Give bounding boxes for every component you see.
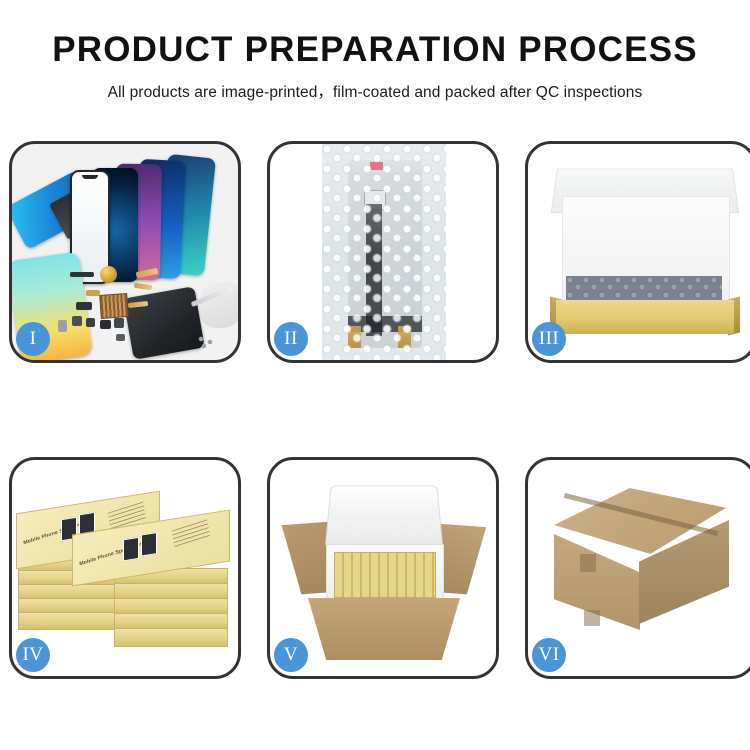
stacked-box-l5 <box>18 612 116 630</box>
yellow-boxes-inside <box>334 552 436 598</box>
screws-group <box>198 336 218 348</box>
box-spec-lines-front <box>172 519 211 550</box>
process-step-card-4: Mobile Phone Spare Parts Mobile Phone Sp… <box>9 457 241 679</box>
bubble-wrap-bag <box>322 144 446 360</box>
flex-cable-2 <box>134 283 153 290</box>
step-badge-4: IV <box>16 638 50 672</box>
page-title: PRODUCT PREPARATION PROCESS <box>0 32 750 69</box>
phone-back-housing <box>123 286 205 360</box>
foam-box-lid <box>325 485 443 545</box>
small-part-2 <box>76 302 92 310</box>
process-step-card-6: VI <box>525 457 750 679</box>
process-step-card-5: V <box>267 457 499 679</box>
box-screen-thumb-d <box>141 532 157 557</box>
process-step-card-1: I <box>9 141 241 363</box>
gold-component <box>100 266 117 283</box>
small-part-3 <box>72 316 82 326</box>
step-badge-2: II <box>274 322 308 356</box>
small-part-8 <box>116 334 125 341</box>
page-subtitle: All products are image-printed，film-coat… <box>0 80 750 102</box>
product-preparation-infographic: PRODUCT PREPARATION PROCESS All products… <box>0 0 750 750</box>
small-part-7 <box>86 290 100 296</box>
carton-tape-mark-lower <box>584 610 600 626</box>
notch-shape <box>82 175 98 179</box>
step-badge-6: VI <box>532 638 566 672</box>
step-badge-1: I <box>16 322 50 356</box>
small-part-5 <box>100 320 111 329</box>
small-part-6 <box>114 318 124 328</box>
carton-tape-mark-upper <box>580 554 596 572</box>
process-step-card-2: II <box>267 141 499 363</box>
bubble-texture <box>322 144 446 360</box>
small-part-9 <box>58 320 67 332</box>
chip-grid-component <box>99 293 129 319</box>
carton-body <box>308 598 460 660</box>
step-badge-3: III <box>532 322 566 356</box>
box-screen-thumb-c <box>123 537 139 562</box>
process-step-grid: I II <box>9 141 741 679</box>
header: PRODUCT PREPARATION PROCESS All products… <box>0 0 750 102</box>
stacked-box-r5 <box>114 628 228 647</box>
process-step-card-3: III <box>525 141 750 363</box>
small-part-4 <box>86 318 95 327</box>
step-badge-5: V <box>274 638 308 672</box>
kraft-box-front-panel <box>556 300 734 334</box>
small-part-1 <box>70 272 94 277</box>
